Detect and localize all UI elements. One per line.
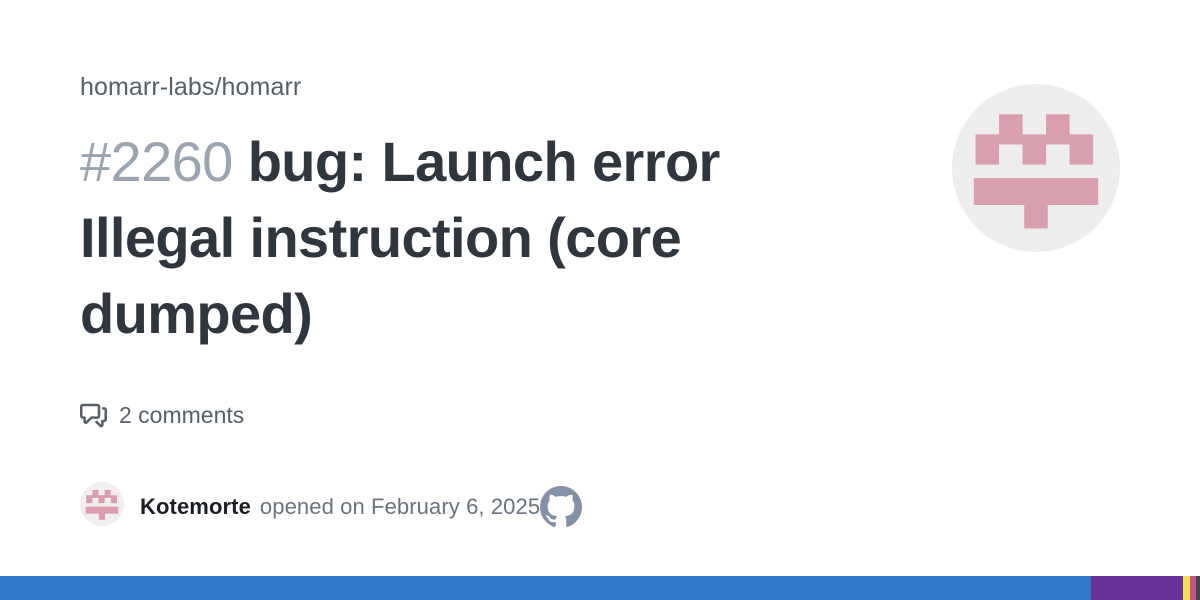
language-segment-css xyxy=(1091,576,1183,600)
card-header: homarr-labs/homarr #2260 bug: Launch err… xyxy=(80,72,1120,429)
issue-text-column: homarr-labs/homarr #2260 bug: Launch err… xyxy=(80,72,870,429)
language-bar xyxy=(0,576,1200,600)
language-segment-other xyxy=(1196,576,1200,600)
author-byline: Kotemorteopened on February 6, 2025 xyxy=(140,494,540,520)
language-segment-typescript xyxy=(0,576,1091,600)
avatar xyxy=(80,482,124,531)
comments-row: 2 comments xyxy=(80,402,870,429)
author-username: Kotemorte xyxy=(140,494,251,519)
language-segment-javascript xyxy=(1183,576,1190,600)
homarr-logo-icon xyxy=(952,72,1120,257)
issue-title: #2260 bug: Launch error Illegal instruct… xyxy=(80,124,870,352)
issue-number: #2260 xyxy=(80,130,233,193)
issue-author-row: Kotemorteopened on February 6, 2025 xyxy=(80,482,1120,531)
opened-on-text: opened on February 6, 2025 xyxy=(260,494,540,519)
comments-count-label: 2 comments xyxy=(119,402,244,429)
repository-name: homarr-labs/homarr xyxy=(80,72,870,102)
issue-preview-card: homarr-labs/homarr #2260 bug: Launch err… xyxy=(0,0,1200,576)
author-info: Kotemorteopened on February 6, 2025 xyxy=(80,482,540,531)
comment-discussion-icon xyxy=(80,402,107,429)
github-mark-icon xyxy=(540,486,582,528)
